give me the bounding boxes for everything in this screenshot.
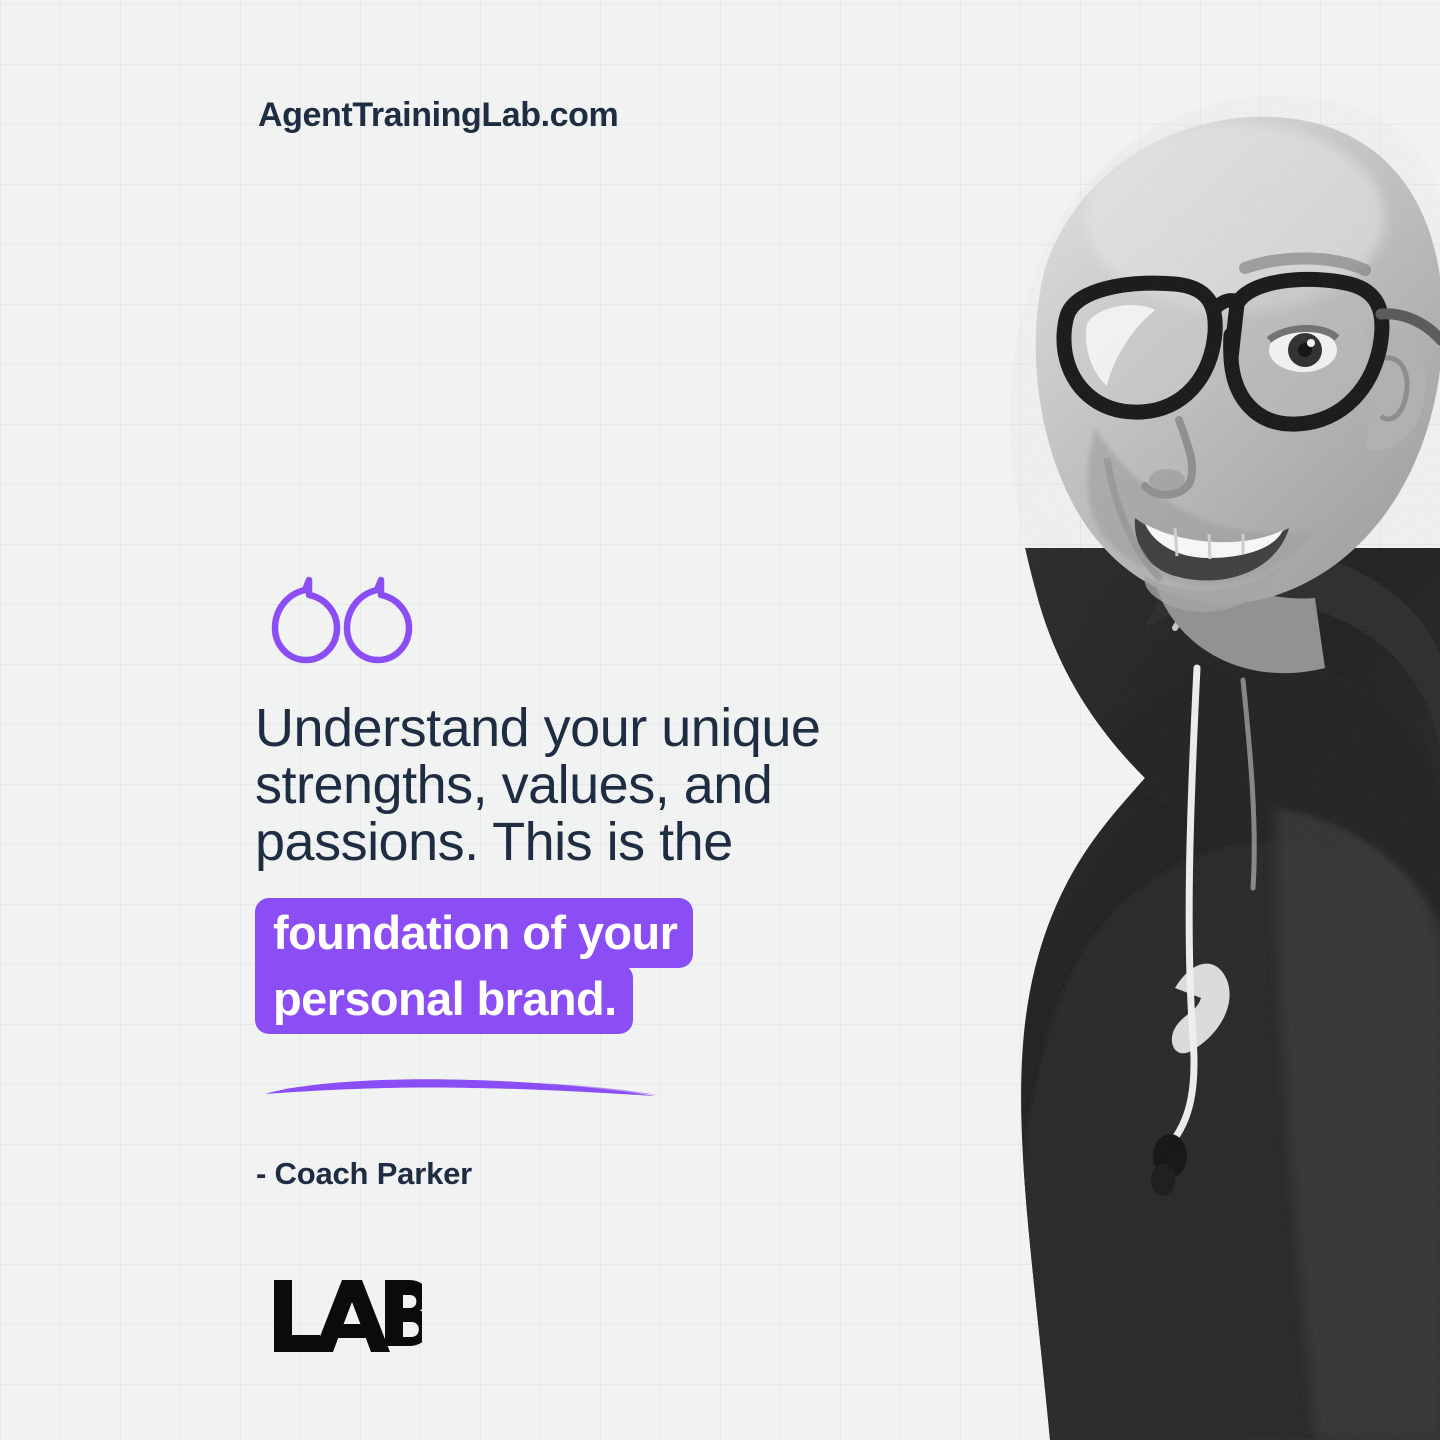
quote-highlight: foundation of your personal brand. — [255, 898, 693, 1034]
site-url-label: AgentTrainingLab.com — [258, 96, 618, 135]
quote-line: Understand your unique — [255, 700, 935, 757]
portrait-photo — [845, 28, 1440, 1440]
quote-line: passions. This is the — [255, 814, 935, 871]
brush-stroke-underline-icon — [262, 1062, 662, 1110]
quote-highlight-line: personal brand. — [255, 964, 633, 1034]
attribution-label: - Coach Parker — [256, 1156, 472, 1192]
quote-highlight-line: foundation of your — [255, 898, 693, 968]
double-open-quote-icon — [265, 568, 415, 668]
quote-card: AgentTrainingLab.com Understand your uni… — [0, 0, 1440, 1440]
quote-line: strengths, values, and — [255, 757, 935, 814]
lab-logo — [272, 1278, 422, 1354]
quote-text: Understand your unique strengths, values… — [255, 700, 935, 871]
